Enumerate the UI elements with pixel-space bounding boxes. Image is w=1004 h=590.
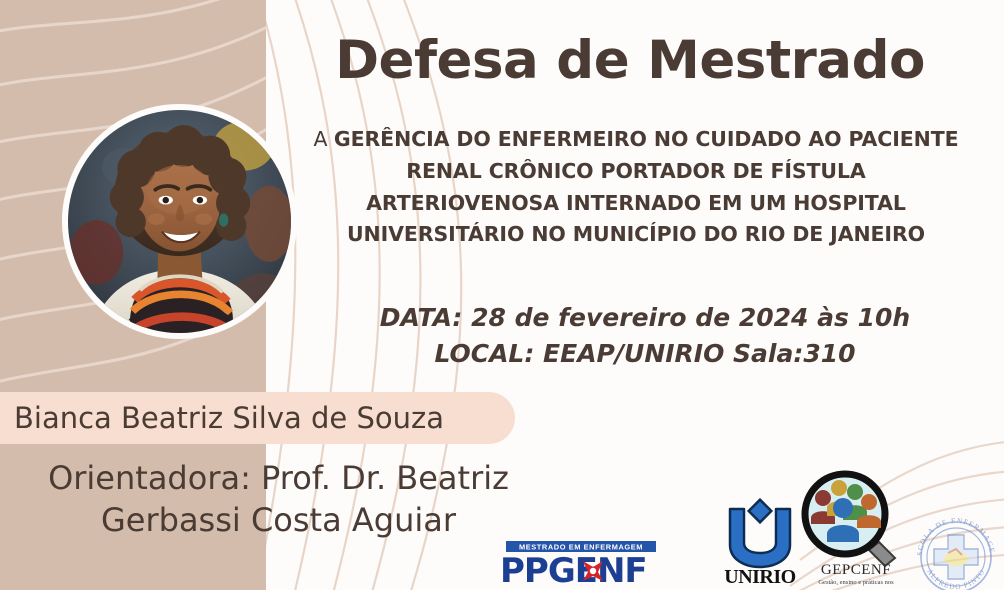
poster-canvas: Defesa de Mestrado A GERÊNCIA DO ENFERME… <box>0 0 1004 590</box>
thesis-title-line-1: GERÊNCIA DO ENFERMEIRO NO CUIDADO AO PAC… <box>334 127 959 151</box>
student-name-badge: Bianca Beatriz Silva de Souza <box>0 392 515 444</box>
unirio-emblem-icon <box>730 500 790 567</box>
thesis-title-line-4: UNIVERSITÁRIO NO MUNICÍPIO DO RIO DE JAN… <box>347 222 925 246</box>
unirio-wordmark: UNIRIO <box>724 566 795 587</box>
thesis-title-line-3: ARTERIOVENOSA INTERNADO EM UM HOSPITAL <box>366 191 906 215</box>
gepcenf-magnifier-icon <box>805 474 895 566</box>
gepcenf-logo: GEPCENF Gestão, ensino e práticas nos <box>797 452 915 590</box>
gepcenf-wordmark: GEPCENF <box>821 562 891 578</box>
thesis-title-lead: A <box>314 127 334 151</box>
event-details: DATA: 28 de fevereiro de 2024 às 10h LOC… <box>330 300 960 371</box>
student-name: Bianca Beatriz Silva de Souza <box>0 401 444 435</box>
event-date: DATA: 28 de fevereiro de 2024 às 10h <box>330 300 960 336</box>
advisor-block: Orientadora: Prof. Dr. Beatriz Gerbassi … <box>16 458 541 541</box>
ppgenf-wordmark: PPGENF <box>500 551 647 587</box>
thesis-title-line-2: RENAL CRÔNICO PORTADOR DE FÍSTULA <box>406 159 865 183</box>
avatar <box>62 104 297 339</box>
thesis-title: A GERÊNCIA DO ENFERMEIRO NO CUIDADO AO P… <box>286 124 986 251</box>
unirio-logo: UNIRIO <box>710 497 810 587</box>
portrait-photo <box>68 110 291 333</box>
eeap-seal-logo: ESCOLA DE ENFERMAGEM ALFREDO PINTO <box>910 515 1002 590</box>
gepcenf-tagline: Gestão, ensino e práticas nos <box>818 579 894 586</box>
ppgenf-logo: MESTRADO EM ENFERMAGEM PPGENF <box>497 541 687 587</box>
eeap-cross-icon <box>934 535 978 579</box>
event-location: LOCAL: EEAP/UNIRIO Sala:310 <box>330 336 960 372</box>
page-title: Defesa de Mestrado <box>272 33 988 89</box>
advisor-line-1: Orientadora: Prof. Dr. Beatriz <box>16 458 541 500</box>
advisor-line-2: Gerbassi Costa Aguiar <box>16 500 541 542</box>
